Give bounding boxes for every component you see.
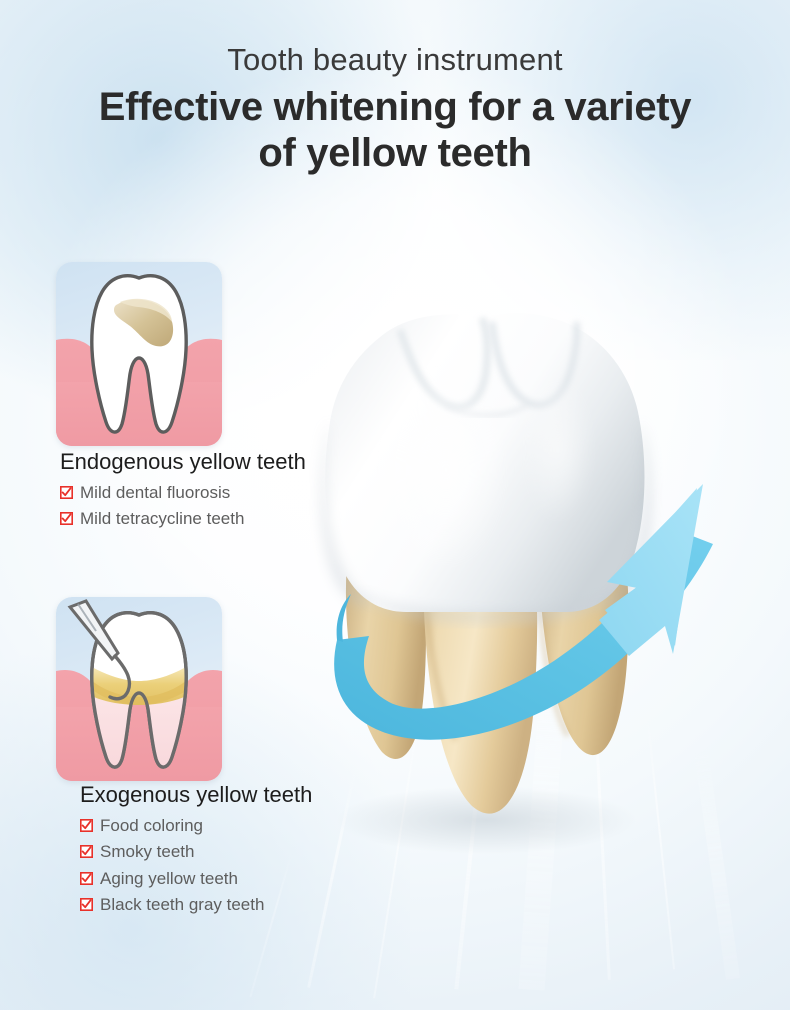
checkbox-checked-icon [80, 898, 93, 911]
list-item-label: Mild dental fluorosis [80, 480, 230, 506]
headline-line-2: of yellow teeth [0, 130, 790, 176]
checkbox-checked-icon [80, 819, 93, 832]
blue-swoosh-arrow [285, 470, 785, 800]
list-item-label: Smoky teeth [100, 839, 195, 865]
checkbox-checked-icon [60, 512, 73, 525]
exogenous-check-list: Food coloring Smoky teeth [80, 813, 312, 918]
list-item: Food coloring [80, 813, 312, 839]
list-item: Smoky teeth [80, 839, 312, 865]
checkbox-checked-icon [60, 486, 73, 499]
headline-group: Tooth beauty instrument Effective whiten… [0, 44, 790, 176]
page-title: Effective whitening for a variety of yel… [0, 84, 790, 177]
checkbox-checked-icon [80, 872, 93, 885]
card-exogenous-icon [56, 597, 222, 781]
list-item: Aging yellow teeth [80, 866, 312, 892]
checkbox-checked-icon [80, 845, 93, 858]
product-poster: Tooth beauty instrument Effective whiten… [0, 0, 790, 1010]
list-item: Mild tetracycline teeth [60, 506, 306, 532]
headline-line-1: Effective whitening for a variety [0, 84, 790, 130]
card-title-endogenous: Endogenous yellow teeth [60, 448, 306, 476]
card-endogenous-icon [56, 262, 222, 446]
list-item: Mild dental fluorosis [60, 480, 306, 506]
endogenous-text-block: Endogenous yellow teeth Mild dental fluo… [60, 448, 306, 533]
endogenous-check-list: Mild dental fluorosis Mild tetracycline … [60, 480, 306, 532]
card-title-exogenous: Exogenous yellow teeth [80, 781, 312, 809]
list-item-label: Mild tetracycline teeth [80, 506, 244, 532]
list-item-label: Food coloring [100, 813, 203, 839]
exogenous-text-block: Exogenous yellow teeth Food coloring [80, 781, 312, 919]
kicker-text: Tooth beauty instrument [0, 44, 790, 77]
list-item-label: Aging yellow teeth [100, 866, 238, 892]
list-item-label: Black teeth gray teeth [100, 892, 264, 918]
list-item: Black teeth gray teeth [80, 892, 312, 918]
